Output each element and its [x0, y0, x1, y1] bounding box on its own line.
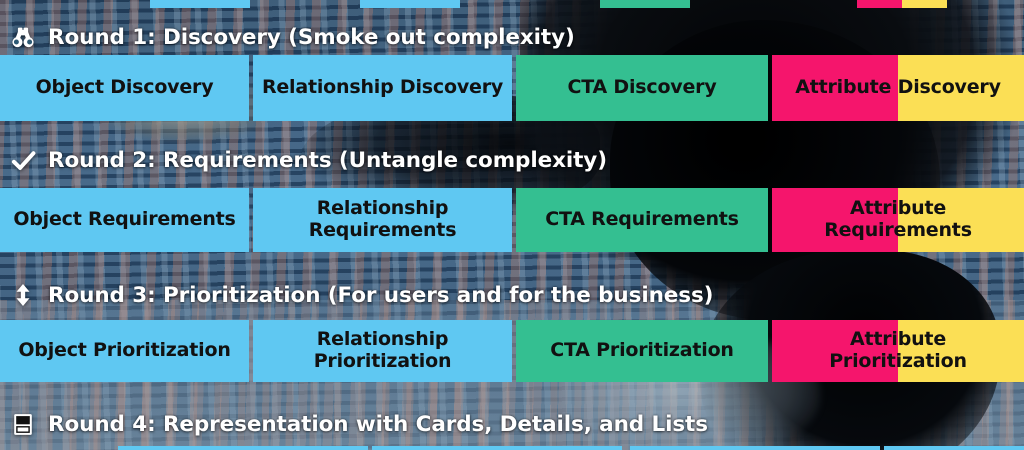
round-header-4: Round 4: Representation with Cards, Deta… [8, 407, 708, 441]
round-header-1: Round 1: Discovery (Smoke out complexity… [8, 20, 575, 54]
up-down-arrow-icon [8, 280, 38, 310]
partial-top-cell-2 [360, 0, 460, 8]
round-header-label-4: Round 4: Representation with Cards, Deta… [48, 412, 708, 437]
partial-top-cell-3 [600, 0, 690, 8]
partial-top-cell-1 [150, 0, 250, 8]
cell-object-requirements[interactable]: Object Requirements [0, 188, 249, 252]
cell-cta-prioritization[interactable]: CTA Prioritization [516, 320, 768, 382]
cell-object-discovery[interactable]: Object Discovery [0, 55, 249, 121]
partial-top-cell-4 [857, 0, 947, 8]
round-header-label-2: Round 2: Requirements (Untangle complexi… [48, 148, 607, 173]
cell-round4-3[interactable] [630, 446, 880, 450]
round-header-label-1: Round 1: Discovery (Smoke out complexity… [48, 25, 575, 50]
cell-attribute-discovery[interactable]: Attribute Discovery [772, 55, 1024, 121]
cell-relationship-discovery[interactable]: Relationship Discovery [253, 55, 512, 121]
cell-object-prioritization[interactable]: Object Prioritization [0, 320, 249, 382]
round-header-3: Round 3: Prioritization (For users and f… [8, 278, 713, 312]
rounds-grid: Round 1: Discovery (Smoke out complexity… [0, 0, 1024, 450]
round-header-2: Round 2: Requirements (Untangle complexi… [8, 143, 607, 177]
card-icon [8, 409, 38, 439]
cell-round4-1[interactable] [118, 446, 368, 450]
cell-round4-2[interactable] [372, 446, 622, 450]
cell-cta-requirements[interactable]: CTA Requirements [516, 188, 768, 252]
round-header-label-3: Round 3: Prioritization (For users and f… [48, 283, 713, 308]
binoculars-icon [8, 22, 38, 52]
checkmark-icon [8, 145, 38, 175]
cell-attribute-requirements[interactable]: Attribute Requirements [772, 188, 1024, 252]
cell-attribute-prioritization[interactable]: Attribute Prioritization [772, 320, 1024, 382]
cell-round4-4[interactable] [884, 446, 1024, 450]
cell-relationship-requirements[interactable]: Relationship Requirements [253, 188, 512, 252]
cell-relationship-prioritization[interactable]: Relationship Prioritization [253, 320, 512, 382]
cell-cta-discovery[interactable]: CTA Discovery [516, 55, 768, 121]
